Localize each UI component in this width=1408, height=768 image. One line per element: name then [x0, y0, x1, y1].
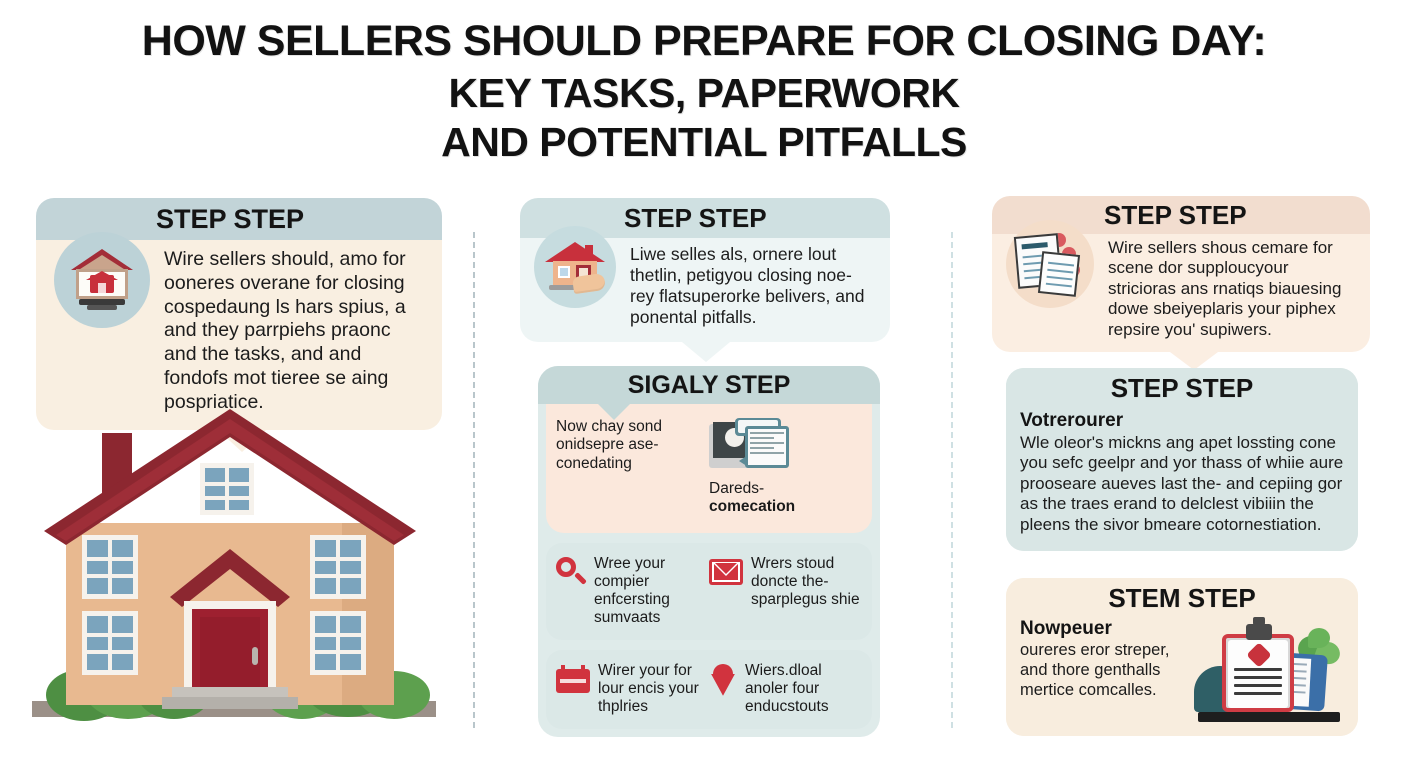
grid-cell[interactable]: Wiers.dloal anoler four enducstouts	[709, 662, 862, 717]
column3-top-text: Wire sellers shous cemare for scene dor …	[1108, 238, 1358, 340]
house-illustration	[24, 383, 444, 743]
title-line-3: AND POTENTIAL PITFALLS	[0, 122, 1408, 163]
calendar-icon	[556, 665, 590, 693]
column2-grid-row-2: Wree your compier enfcersting sumvaats W…	[546, 543, 872, 640]
column2-grid-row-1: Now chay sond onidsepre ase-conedating D…	[546, 404, 872, 533]
clipboard-desk-icon	[1194, 618, 1344, 722]
column2-step-card-top[interactable]: STEP STEP Liwe selles als, ornere lout t…	[520, 198, 890, 342]
column-divider-1	[473, 232, 475, 728]
column3-bottom-subheading: Nowpeuer	[1020, 618, 1188, 640]
magnifier-icon	[556, 557, 586, 587]
column3-mid-heading: STEP STEP	[1006, 368, 1358, 408]
grid-cell[interactable]: Dareds- comecation	[709, 418, 862, 517]
grid-cell[interactable]: Wrers stoud doncte the-sparplegus shie	[709, 555, 862, 628]
grid-cell-text: Dareds-	[709, 480, 795, 498]
column3-mid-body: Votrerourer Wle oleor's mickns ang apet …	[1006, 408, 1358, 551]
grid-cell-text-bold: comecation	[709, 498, 795, 516]
column3-bottom-text: oureres eror streper, and thore genthall…	[1020, 641, 1188, 700]
column3-mid-text: Wle oleor's mickns ang apet lossting con…	[1020, 433, 1344, 535]
house-hand-icon	[534, 226, 616, 308]
column2-grid-heading: SIGALY STEP	[538, 366, 880, 404]
location-pin-icon	[709, 664, 737, 696]
column3-mid-subheading: Votrerourer	[1020, 410, 1344, 432]
column2-grid-row-3: Wirer your for lour encis your thplries …	[546, 650, 872, 729]
grid-cell-text: Now chay sond onidsepre ase-conedating	[556, 418, 709, 473]
title-line-2: KEY TASKS, PAPERWORK	[0, 73, 1408, 114]
grid-cell[interactable]: Wree your compier enfcersting sumvaats	[556, 555, 709, 628]
grid-cell-text: Wree your compier enfcersting sumvaats	[594, 555, 709, 628]
envelope-icon	[709, 559, 743, 585]
column2-grid-card[interactable]: SIGALY STEP Now chay sond onidsepre ase-…	[538, 366, 880, 737]
column2-top-text: Liwe selles als, ornere lout thetlin, pe…	[630, 244, 876, 328]
page-title: HOW SELLERS SHOULD PREPARE FOR CLOSING D…	[0, 20, 1408, 163]
column-divider-2	[951, 232, 953, 728]
title-line-1: HOW SELLERS SHOULD PREPARE FOR CLOSING D…	[0, 20, 1408, 63]
document-monitor-icon	[709, 418, 791, 480]
house-easel-icon	[54, 232, 150, 328]
column3-step-card-bottom[interactable]: STEM STEP Nowpeuer oureres eror streper,…	[1006, 578, 1358, 736]
column3-bottom-heading: STEM STEP	[1006, 578, 1358, 618]
grid-cell[interactable]: Now chay sond onidsepre ase-conedating	[556, 418, 709, 517]
infographic-canvas: HOW SELLERS SHOULD PREPARE FOR CLOSING D…	[0, 0, 1408, 768]
column2-grid-tail	[598, 404, 630, 420]
grid-cell[interactable]: Wirer your for lour encis your thplries	[556, 662, 709, 717]
column3-step-card-mid[interactable]: STEP STEP Votrerourer Wle oleor's mickns…	[1006, 368, 1358, 551]
grid-cell-text: Wiers.dloal anoler four enducstouts	[745, 662, 862, 717]
grid-cell-text: Wirer your for lour encis your thplries	[598, 662, 709, 717]
documents-icon	[1006, 220, 1094, 308]
column2-top-tail	[682, 342, 730, 362]
grid-cell-text: Wrers stoud doncte the-sparplegus shie	[751, 555, 862, 610]
column3-step-card-top[interactable]: STEP STEP Wire sellers shous cemare for …	[992, 196, 1370, 352]
column3-bottom-body: Nowpeuer oureres eror streper, and thore…	[1006, 618, 1358, 736]
